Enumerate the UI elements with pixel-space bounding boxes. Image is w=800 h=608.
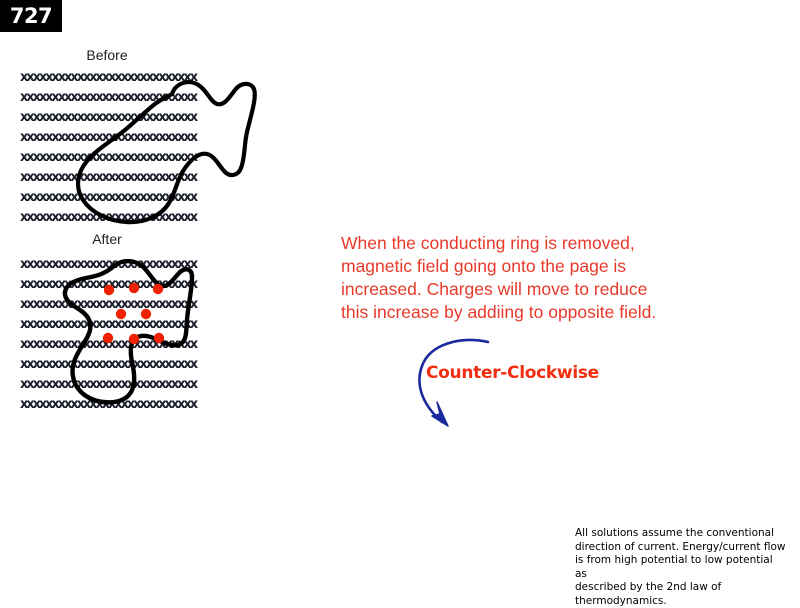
field-row: xxxxxxxxxxxxxxxxxxxxxxxxxxxx [20,275,200,295]
field-row: xxxxxxxxxxxxxxxxxxxxxxxxxxxx [20,68,200,88]
field-row: xxxxxxxxxxxxxxxxxxxxxxxxxxxx [20,108,200,128]
counter-clockwise-label: Counter-Clockwise [426,363,599,383]
field-row: xxxxxxxxxxxxxxxxxxxxxxxxxxxx [20,255,200,275]
explanation-line-1: When the conducting ring is removed, [341,232,691,255]
after-panel-label: After [22,232,192,246]
field-row: xxxxxxxxxxxxxxxxxxxxxxxxxxxx [20,355,200,375]
page-number-badge: 727 [0,0,62,32]
field-row: xxxxxxxxxxxxxxxxxxxxxxxxxxxx [20,335,200,355]
field-row: xxxxxxxxxxxxxxxxxxxxxxxxxxxx [20,315,200,335]
explanation-text: When the conducting ring is removed, mag… [341,232,691,324]
explanation-line-4: this increase by addiing to opposite fie… [341,301,691,324]
before-panel-label: Before [22,48,192,62]
field-row: xxxxxxxxxxxxxxxxxxxxxxxxxxxx [20,88,200,108]
explanation-line-3: increased. Charges will move to reduce [341,278,691,301]
after-magnetic-field-grid: xxxxxxxxxxxxxxxxxxxxxxxxxxxx xxxxxxxxxxx… [20,255,200,415]
field-row: xxxxxxxxxxxxxxxxxxxxxxxxxxxx [20,395,200,415]
footer-line-4: described by the 2nd law of [575,581,787,595]
field-row: xxxxxxxxxxxxxxxxxxxxxxxxxxxx [20,208,200,228]
explanation-line-2: magnetic field going onto the page is [341,255,691,278]
field-row: xxxxxxxxxxxxxxxxxxxxxxxxxxxx [20,128,200,148]
page-number-text: 727 [10,6,52,27]
footer-line-1: All solutions assume the conventional [575,527,787,541]
field-row: xxxxxxxxxxxxxxxxxxxxxxxxxxxx [20,148,200,168]
field-row: xxxxxxxxxxxxxxxxxxxxxxxxxxxx [20,375,200,395]
answer-group: Counter-Clockwise [400,330,630,435]
footer-disclaimer: All solutions assume the conventional di… [575,527,787,608]
field-row: xxxxxxxxxxxxxxxxxxxxxxxxxxxx [20,168,200,188]
before-magnetic-field-grid: xxxxxxxxxxxxxxxxxxxxxxxxxxxx xxxxxxxxxxx… [20,68,200,228]
footer-line-2: direction of current. Energy/current flo… [575,541,787,555]
field-row: xxxxxxxxxxxxxxxxxxxxxxxxxxxx [20,295,200,315]
field-row: xxxxxxxxxxxxxxxxxxxxxxxxxxxx [20,188,200,208]
footer-line-5: thermodynamics. [575,595,787,608]
footer-line-3: is from high potential to low potential … [575,554,787,581]
